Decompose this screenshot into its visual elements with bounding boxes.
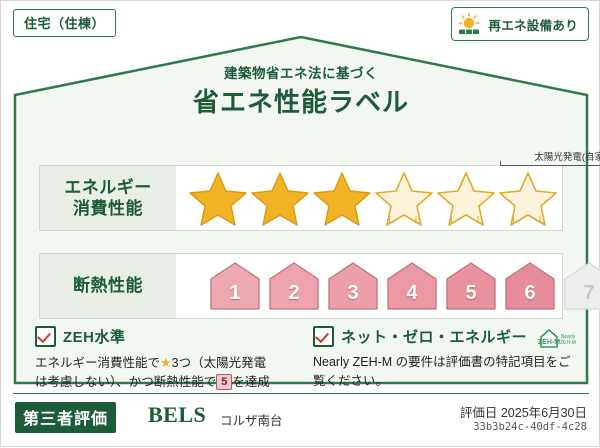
star-outline-6: LL <box>498 169 558 227</box>
insulation-level-2: 2 <box>267 260 321 312</box>
solar-generation-note: 太陽光発電(自家消費)分 <box>500 149 600 163</box>
net-zero-energy-note: ネット・ゼロ・エネルギー ZEH-M Nearly ZEH-M Nearly Z… <box>313 325 575 391</box>
bels-logo: BELS <box>148 402 206 428</box>
insulation-level-6: 6 <box>503 260 557 312</box>
sun-icon <box>456 12 482 36</box>
check-icon <box>35 326 56 347</box>
energy-performance-row: エネルギー 消費性能 太陽光発電(自家消費)分 <box>39 165 563 231</box>
energy-label-line2: 消費性能 <box>64 198 152 219</box>
insulation-level-5-value: 5 <box>444 282 498 305</box>
renewable-equipment-label: 再エネ設備あり <box>488 15 578 34</box>
energy-label-card: 住宅（住棟） 再エネ設備あり <box>0 0 600 447</box>
zeh-body-part1: エネルギー消費性能で <box>35 356 160 370</box>
evaluation-date: 評価日 2025年6月30日 <box>460 402 587 421</box>
star-outline-4: LL <box>374 169 434 227</box>
insulation-level-7: 7 <box>562 260 600 312</box>
energy-performance-stars-area: 太陽光発電(自家消費)分 <box>176 166 562 230</box>
insulation-level-4-value: 4 <box>385 282 439 305</box>
building-name: コルザ南台 <box>220 410 283 429</box>
insulation-level-4: 4 <box>385 260 439 312</box>
star-filled-1 <box>188 169 248 227</box>
zeh-standard-note: ZEH水準 エネルギー消費性能で★3つ（太陽光発電 は考慮しない）、かつ断熱性能… <box>35 325 297 392</box>
third-party-evaluation-badge: 第三者評価 <box>15 402 116 433</box>
panel-subtitle: 建築物省エネ法に基づく <box>13 62 589 82</box>
insulation-level-3: 3 <box>326 260 380 312</box>
insulation-performance-label: 断熱性能 <box>40 254 176 318</box>
star-filled-2 <box>250 169 310 227</box>
svg-text:ZEH-M: ZEH-M <box>560 340 576 346</box>
solar-generation-bracket: 太陽光発電(自家消費)分 <box>500 144 600 166</box>
zeh-body-line2-part1: は考慮しない）、かつ断熱性能で <box>35 375 216 389</box>
check-icon <box>313 326 334 347</box>
net-zero-title: ネット・ゼロ・エネルギー <box>341 326 527 347</box>
insulation-level-3-value: 3 <box>326 282 380 305</box>
star-filled-3 <box>312 169 372 227</box>
insulation-level-1: 1 <box>208 260 262 312</box>
zeh-body-part2: 3つ（太陽光発電 <box>172 356 266 370</box>
main-panel: 建築物省エネ法に基づく 省エネ性能ラベル エネルギー 消費性能 太陽光発電(自家… <box>13 35 589 385</box>
insulation-level-6-value: 6 <box>503 282 557 305</box>
page-title: 省エネ性能ラベル <box>13 82 589 119</box>
building-type-badge: 住宅（住棟） <box>13 9 116 37</box>
zeh-standard-head: ZEH水準 <box>35 325 297 347</box>
footer-divider <box>13 393 589 394</box>
insulation-level-1-value: 1 <box>208 282 262 305</box>
star-rating: LL LL LL <box>188 166 560 230</box>
insulation-level-5: 5 <box>444 260 498 312</box>
energy-label-line1: エネルギー <box>64 177 152 198</box>
insulation-performance-row: 断熱性能 1 2 <box>39 253 563 319</box>
insulation-levels-area: 1 2 3 <box>176 254 562 318</box>
zeh-m-logo-icon: ZEH-M Nearly ZEH-M <box>531 323 577 353</box>
svg-text:ZEH-M: ZEH-M <box>538 339 560 346</box>
star-icon: ★ <box>160 355 172 370</box>
star-outline-5: LL <box>436 169 496 227</box>
zeh-standard-title: ZEH水準 <box>63 326 126 347</box>
evaluation-id: 33b3b24c-40df-4c28 <box>473 421 587 433</box>
footer: 第三者評価 BELS コルザ南台 評価日 2025年6月30日 33b3b24c… <box>1 393 600 448</box>
insulation-level-scale: 1 2 3 <box>208 254 600 318</box>
zeh-body-line2-part2: を達成 <box>232 375 270 389</box>
insulation-badge: 5 <box>216 374 232 390</box>
insulation-level-7-value: 7 <box>562 282 600 305</box>
insulation-level-2-value: 2 <box>267 282 321 305</box>
zeh-standard-body: エネルギー消費性能で★3つ（太陽光発電 は考慮しない）、かつ断熱性能で5を達成 <box>35 353 297 392</box>
net-zero-body: Nearly ZEH-M の要件は評価書の特記項目をご覧ください。 <box>313 353 575 391</box>
energy-performance-label: エネルギー 消費性能 <box>40 166 176 230</box>
